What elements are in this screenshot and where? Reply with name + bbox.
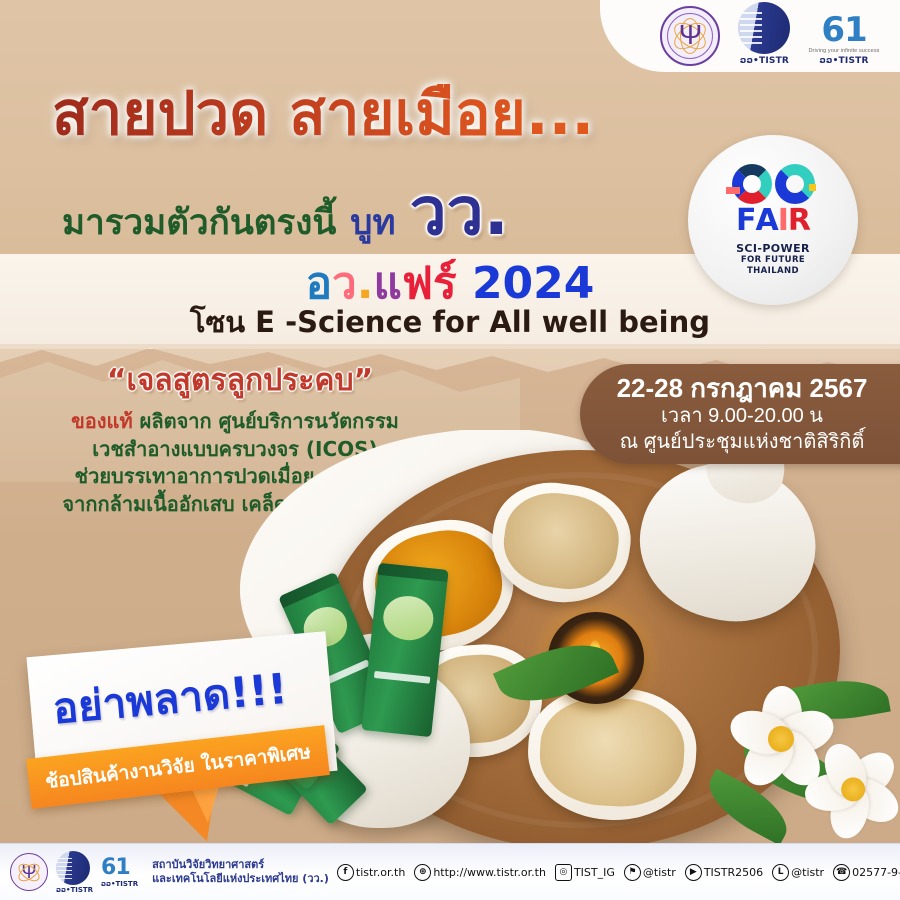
poster-root: Ψ ວວ•TISTR 61 Driving your infinite succ…	[0, 0, 900, 900]
website-globe-icon: ⊕	[414, 864, 431, 881]
tistr-globe-icon	[738, 2, 790, 54]
phone-icon: ☎	[833, 864, 850, 881]
contact-twitter[interactable]: ⚑ @tistr	[624, 864, 676, 881]
event-date: 22-28 กรกฎาคม 2567	[600, 374, 884, 403]
mhesi-seal-icon: Ψ	[660, 6, 720, 66]
facebook-icon: f	[337, 864, 354, 881]
footer-bar: Ψ ວວ•TISTR 61 ວວ•TISTR สถาบันวิจัยวิทยาศ…	[0, 843, 900, 900]
instagram-icon: ◎	[555, 864, 572, 881]
footer-anniversary-number: 61	[101, 857, 138, 879]
contact-youtube-label: TISTR2506	[704, 866, 763, 879]
event-title-part4: แ	[373, 258, 401, 309]
contact-instagram[interactable]: ◎ TIST_IG	[555, 864, 615, 881]
product-title: “เจลสูตรลูกประคบ”	[40, 366, 440, 396]
footer-mhesi-logo: Ψ	[10, 853, 48, 891]
footer-tistr-logo: ວວ•TISTR	[56, 851, 93, 894]
trident-icon: Ψ	[679, 21, 702, 49]
footer-org-line1: สถาบันวิจัยวิทยาศาสตร์	[152, 858, 329, 872]
fair-letter-f: F	[736, 206, 756, 236]
tistr-logo-caption: ວວ•TISTR	[740, 56, 789, 66]
ring-glyph-icon	[732, 164, 772, 204]
footer-contacts: f tistr.or.th ⊕ http://www.tistr.or.th ◎…	[337, 864, 900, 881]
footer-logos: Ψ ວວ•TISTR 61 ວວ•TISTR	[10, 851, 138, 894]
contact-line[interactable]: L @tistr	[772, 864, 824, 881]
mhesi-logo: Ψ	[660, 6, 720, 66]
footer-organization-name: สถาบันวิจัยวิทยาศาสตร์ และเทคโนโลยีแห่งป…	[152, 858, 329, 886]
event-info-pill: 22-28 กรกฎาคม 2567 เวลา 9.00-20.00 น ณ ศ…	[580, 364, 900, 464]
headline-secondary: มารวมตัวกันตรงนี้ บูท วว.	[62, 182, 762, 241]
contact-phone-label: 02577-9-000	[852, 866, 900, 879]
contact-phone[interactable]: ☎ 02577-9-000	[833, 864, 900, 881]
contact-facebook[interactable]: f tistr.or.th	[337, 864, 405, 881]
fair-wordmark: F A I R	[736, 206, 810, 236]
event-title-part5: ฟร์	[402, 258, 457, 309]
anniversary-tagline: Driving your infinite success	[808, 48, 879, 54]
tistr-logo: ວວ•TISTR	[738, 2, 790, 66]
line-icon: L	[772, 864, 789, 881]
top-logo-panel: Ψ ວວ•TISTR 61 Driving your infinite succ…	[600, 0, 900, 72]
contact-twitter-label: @tistr	[643, 866, 676, 879]
contact-facebook-label: tistr.or.th	[356, 866, 405, 879]
contact-line-label: @tistr	[791, 866, 824, 879]
footer-anniversary-logo: 61 ວວ•TISTR	[101, 857, 138, 888]
anniversary-number: 61	[821, 13, 866, 47]
headline-primary: สายปวด สายเมื่อย...	[52, 84, 702, 144]
fair-sub-line1: SCI-POWER	[736, 242, 810, 255]
event-title-part3: .	[357, 258, 374, 309]
event-venue: ณ ศูนย์ประชุมแห่งชาติสิริกิติ์	[600, 429, 884, 455]
footer-org-line2: และเทคโนโลยีแห่งประเทศไทย (วว.)	[152, 872, 329, 886]
anniversary-logo: 61 Driving your infinite success ວວ•TIST…	[808, 13, 879, 66]
youtube-icon: ▶	[685, 864, 702, 881]
fair-letter-i: I	[778, 206, 788, 236]
anniversary-caption: ວວ•TISTR	[819, 56, 868, 66]
booth-label: บูท	[350, 206, 395, 241]
brand-mark-ww: วว.	[410, 182, 509, 241]
event-title-year: 2024	[472, 258, 594, 309]
contact-website[interactable]: ⊕ http://www.tistr.or.th	[414, 864, 546, 881]
event-time: เวลา 9.00-20.00 น	[600, 403, 884, 429]
event-title-part2: ว	[332, 258, 357, 309]
event-title-part1: อ	[306, 258, 332, 309]
contact-website-label: http://www.tistr.or.th	[433, 866, 546, 879]
tistr-globe-icon	[56, 851, 90, 885]
fair-letter-a: A	[756, 206, 778, 236]
fair-letter-r: R	[788, 206, 810, 236]
event-subtitle: โซน E -Science for All well being	[0, 308, 900, 337]
mhesi-seal-icon: Ψ	[10, 853, 48, 891]
headline-secondary-text: มารวมตัวกันตรงนี้	[62, 206, 336, 241]
footer-tistr-caption: ວວ•TISTR	[56, 886, 93, 894]
contact-youtube[interactable]: ▶ TISTR2506	[685, 864, 763, 881]
contact-instagram-label: TIST_IG	[574, 866, 615, 879]
event-title: อว.แฟร์ 2024	[0, 262, 900, 306]
footer-anniversary-caption: ວວ•TISTR	[101, 880, 138, 888]
twitter-icon: ⚑	[624, 864, 641, 881]
fair-badge-thai-mark	[732, 164, 815, 204]
ring-glyph-icon	[775, 164, 815, 204]
